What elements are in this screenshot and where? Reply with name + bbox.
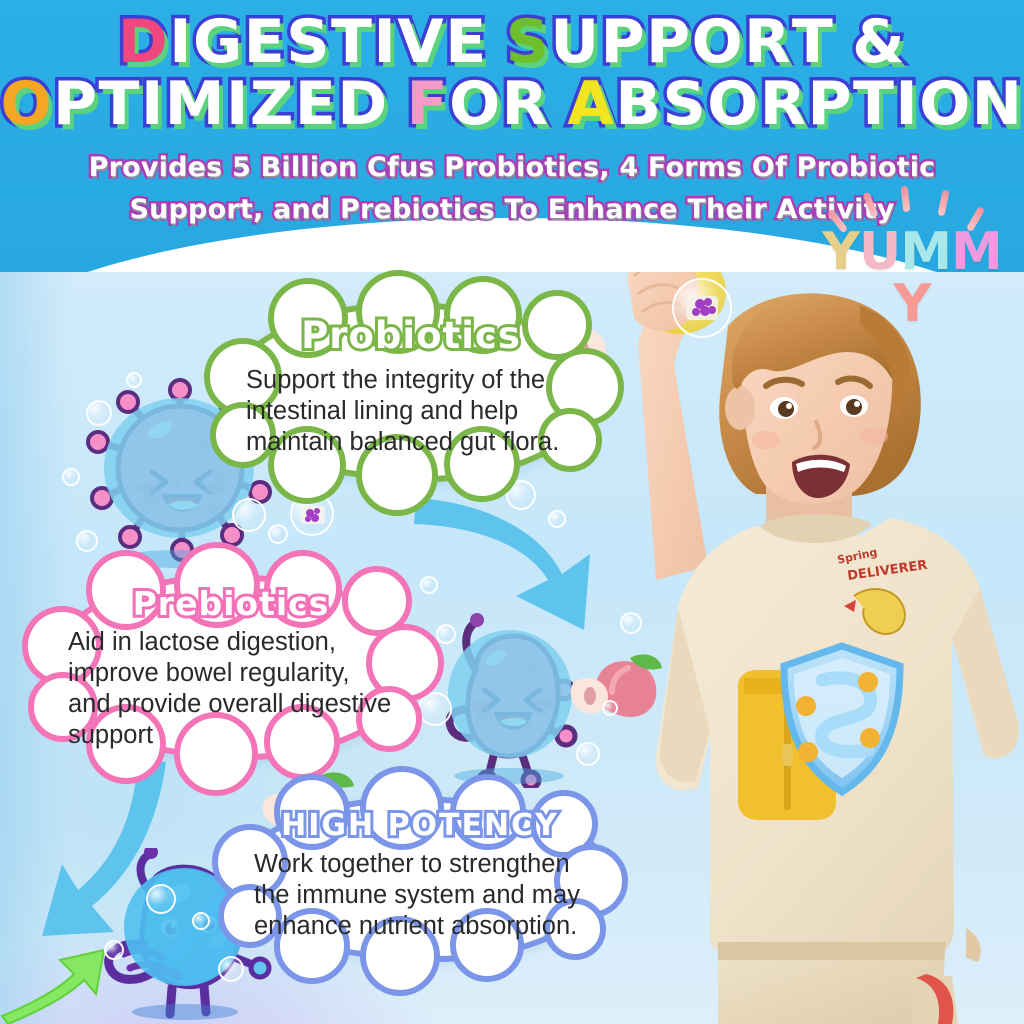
headline-letter: S — [506, 14, 551, 72]
headline-letter: P — [601, 14, 646, 72]
callout-body-line: and provide overall digestive — [68, 689, 402, 720]
headline-letter: S — [663, 76, 708, 134]
headline-letter: B — [615, 76, 662, 134]
bubble-icon — [232, 498, 266, 532]
headline-letter: T — [853, 76, 895, 134]
headline: DIGESTIVESUPPORT& OPTIMIZEDFORABSORPTION — [0, 14, 1024, 133]
headline-letter: R — [760, 76, 808, 134]
headline-letter: O — [692, 14, 745, 72]
headline-line-2: OPTIMIZEDFORABSORPTION — [0, 76, 1024, 134]
peach-fruit-icon — [568, 652, 664, 727]
headline-letter: I — [895, 76, 919, 134]
subtitle-line-1: Provides 5 Billion Cfus Probiotics, 4 Fo… — [0, 147, 1024, 189]
callout-body: Support the integrity of the intestinal … — [246, 365, 578, 458]
bubble-icon — [76, 530, 98, 552]
headline-letter: P — [646, 14, 691, 72]
bubble-icon — [104, 940, 124, 960]
probiotic-crystal-bubble — [672, 278, 732, 338]
headline-letter: I — [141, 76, 165, 134]
headline-letter: F — [407, 76, 450, 134]
headline-letter: I — [169, 14, 193, 72]
callout-body: Work together to strengthen the immune s… — [254, 849, 590, 942]
callout-body-line: Aid in lactose digestion, — [68, 627, 402, 658]
bubble-icon — [576, 742, 600, 766]
bubble-icon — [548, 510, 566, 528]
headline-letter: P — [807, 76, 852, 134]
infographic-canvas: Spring DELIVERER DIGESTIVESUPPORT& OPTIM… — [0, 0, 1024, 1024]
headline-letter: E — [295, 76, 338, 134]
headline-letter: S — [286, 14, 331, 72]
headline-letter: T — [792, 14, 834, 72]
headline-letter: N — [972, 76, 1024, 134]
headline-letter: R — [744, 14, 792, 72]
callout-body-line: Support the integrity of the — [246, 365, 578, 396]
callout-body-line: intestinal lining and help — [246, 396, 578, 427]
callout-probiotics[interactable]: Probiotics Support the integrity of the … — [222, 302, 600, 482]
headline-letter: G — [193, 14, 244, 72]
bubble-icon — [420, 576, 438, 594]
bubble-icon — [126, 372, 142, 388]
headline-line-1: DIGESTIVESUPPORT& — [0, 14, 1024, 72]
callout-body-line: maintain balanced gut flora. — [246, 427, 578, 458]
headline-letter: P — [53, 76, 98, 134]
yummy-letter: U — [859, 226, 900, 278]
callout-body: Aid in lactose digestion, improve bowel … — [68, 627, 402, 751]
headline-letter: Z — [250, 76, 295, 134]
bubble-icon — [602, 700, 618, 716]
callout-title: Prebiotics — [48, 584, 414, 623]
bubble-icon — [192, 912, 210, 930]
callout-high-potency[interactable]: HIGH POTENCY Work together to strengthen… — [230, 796, 610, 962]
bubble-icon — [86, 400, 112, 426]
headline-letter: D — [337, 76, 388, 134]
yummy-letter: M — [951, 226, 1002, 278]
bubble-icon — [146, 884, 176, 914]
headline-letter: R — [502, 76, 550, 134]
bubble-icon — [620, 612, 642, 634]
headline-letter: A — [567, 76, 615, 134]
bubble-icon — [268, 524, 288, 544]
headline-letter: M — [165, 76, 226, 134]
headline-letter: O — [449, 76, 502, 134]
headline-letter: D — [118, 14, 169, 72]
headline-letter: U — [550, 14, 600, 72]
callout-title: HIGH POTENCY — [236, 808, 604, 843]
headline-letter: O — [1, 76, 54, 134]
bubble-icon — [62, 468, 80, 486]
headline-letter: T — [331, 14, 373, 72]
yummy-letter: Y — [822, 226, 859, 278]
yummy-letter: Y — [894, 278, 931, 330]
callout-body-line: Work together to strengthen — [254, 849, 590, 880]
callout-title: Probiotics — [228, 314, 594, 357]
callout-body-line: the immune system and may — [254, 880, 590, 911]
headline-letter: E — [244, 14, 287, 72]
bubble-icon — [436, 624, 456, 644]
headline-letter: O — [707, 76, 760, 134]
headline-letter: I — [226, 76, 250, 134]
yummy-badge: YUMMY — [812, 186, 1012, 296]
yummy-label: YUMMY — [812, 226, 1012, 330]
callout-body-line: improve bowel regularity, — [68, 658, 402, 689]
yummy-letter: M — [900, 226, 951, 278]
callout-body-line: support — [68, 720, 402, 751]
headline-letter: V — [397, 14, 445, 72]
headline-letter: & — [852, 14, 906, 72]
headline-letter: O — [919, 76, 972, 134]
headline-letter: T — [99, 76, 141, 134]
headline-letter: I — [373, 14, 397, 72]
bubble-icon — [218, 956, 244, 982]
callout-body-line: enhance nutrient absorption. — [254, 911, 590, 942]
callout-prebiotics[interactable]: Prebiotics Aid in lactose digestion, imp… — [42, 574, 420, 760]
headline-letter: E — [445, 14, 488, 72]
